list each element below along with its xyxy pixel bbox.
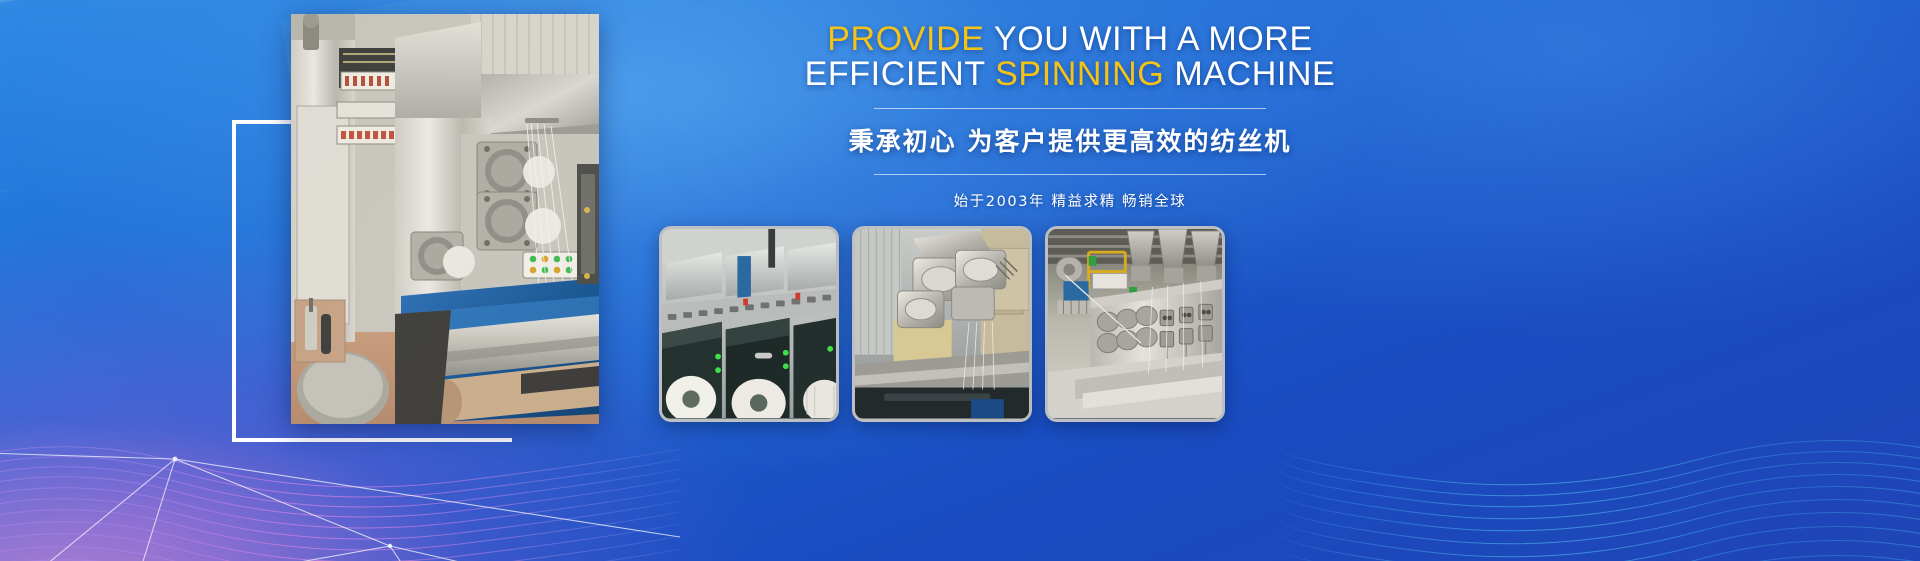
mesh-wave-right-decoration — [1280, 351, 1920, 561]
headline-line-1: PROVIDE YOU WITH A MORE — [700, 22, 1440, 57]
thumbnail-spinning-hoppers[interactable] — [1045, 226, 1225, 422]
chinese-headline: 秉承初心 为客户提供更高效的纺丝机 — [700, 122, 1440, 158]
chinese-subtitle: 始于2003年 精益求精 畅销全球 — [700, 190, 1440, 211]
divider-upper — [874, 108, 1266, 109]
banner-copy: PROVIDE YOU WITH A MORE EFFICIENT SPINNI… — [700, 22, 1440, 211]
thumbnail-2-content — [855, 229, 1029, 418]
headline-post-2: MACHINE — [1164, 55, 1335, 93]
headline-line-2: EFFICIENT SPINNING MACHINE — [700, 57, 1440, 92]
thumbnail-winding-rollers[interactable] — [659, 226, 839, 422]
headline-rest-1: YOU WITH A MORE — [985, 20, 1313, 58]
headline-highlight-provide: PROVIDE — [827, 20, 984, 58]
hero-banner: PROVIDE YOU WITH A MORE EFFICIENT SPINNI… — [0, 0, 1920, 561]
hero-image-content — [291, 14, 599, 424]
thumbnail-3-content — [1048, 229, 1222, 418]
headline-pre-2: EFFICIENT — [805, 55, 996, 93]
thumbnail-1-content — [662, 229, 836, 418]
thumbnail-row — [659, 226, 1225, 422]
thumbnail-overhead-ducting[interactable] — [852, 226, 1032, 422]
headline-highlight-spinning: SPINNING — [995, 55, 1164, 93]
divider-lower — [874, 174, 1266, 175]
hero-image-spinning-machine — [291, 14, 599, 424]
